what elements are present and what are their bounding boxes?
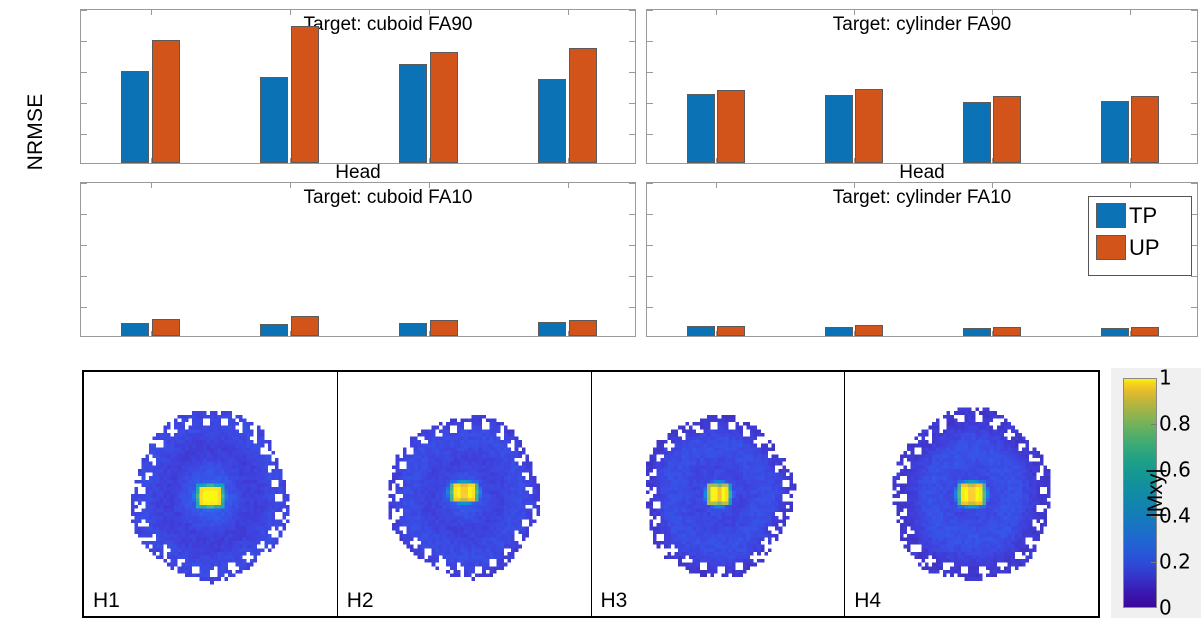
bar-tp-head-1 [687,326,715,336]
y-tick-mark [629,10,635,11]
y-tick-mark [81,307,87,308]
brain-panel-label: H1 [93,589,120,613]
bar-tp-head-4 [538,79,566,163]
brain-image-h3 [617,393,819,595]
y-tick-mark [81,72,87,73]
y-tick-mark [81,10,87,11]
plot-area: Target: cuboid FA9000.020.040.060.080.11… [81,10,635,163]
bar-tp-head-1 [121,71,149,163]
chart-panel-cuboid-fa10: Target: cuboid FA1000.020.040.060.080.1 [80,182,636,337]
brain-image-panel-h2: H2 [338,372,592,616]
y-tick-mark [647,134,653,135]
y-tick-mark [1191,183,1197,184]
bar-up-head-4 [569,320,597,336]
legend-label: UP [1129,237,1160,259]
bar-up-head-1 [152,319,180,337]
y-tick-mark [647,214,653,215]
bar-up-head-4 [569,48,597,163]
brain-image-h2 [363,393,565,595]
x-axis-label-top-left: Head [335,162,380,184]
bar-tp-head-3 [963,328,991,336]
y-axis-label: NRMSE [24,62,48,202]
bar-up-head-3 [430,320,458,336]
x-tick-mark [429,10,430,15]
y-tick-mark [81,134,87,135]
x-tick-mark [854,183,855,188]
bar-up-head-1 [717,326,745,336]
bar-tp-head-3 [963,102,991,163]
bar-up-head-3 [993,96,1021,163]
y-tick-mark [1191,307,1197,308]
colorbar-tick-mark [1151,562,1157,563]
x-tick-mark [290,10,291,15]
legend-item-tp: TP [1096,203,1183,228]
bar-up-head-4 [1131,96,1159,163]
y-tick-mark [629,72,635,73]
y-tick-mark [647,183,653,184]
x-tick-mark [429,183,430,188]
y-tick-mark [647,72,653,73]
bar-tp-head-2 [825,327,853,336]
x-tick-mark [1130,183,1131,188]
y-tick-mark [629,276,635,277]
y-tick-mark [1191,72,1197,73]
legend-item-up: UP [1096,235,1183,260]
bar-tp-head-2 [260,77,288,163]
legend-swatch-up [1096,235,1126,260]
x-tick-mark [992,10,993,15]
legend: TPUP [1088,196,1192,276]
colorbar-label: |Mxy| [1144,428,1168,558]
brain-panel-label: H4 [854,589,881,613]
brain-image-h1 [110,393,312,595]
bar-up-head-2 [855,325,883,336]
y-tick-mark [629,41,635,42]
brain-image-panel-h3: H3 [592,372,846,616]
plot-area: Target: cuboid FA1000.020.040.060.080.1 [81,183,635,336]
y-tick-mark [629,245,635,246]
brain-image-panel-h1: H1 [84,372,338,616]
y-tick-mark [81,214,87,215]
y-tick-mark [81,276,87,277]
x-axis-label-top-right: Head [899,162,944,184]
bar-up-head-3 [430,52,458,163]
plot-area: Target: cylinder FA901234 [647,10,1197,163]
y-tick-mark [81,41,87,42]
y-tick-mark [647,307,653,308]
x-tick-mark [151,10,152,15]
bar-tp-head-4 [538,322,566,336]
panel-title: Target: cylinder FA90 [647,14,1197,36]
y-tick-mark [629,103,635,104]
x-tick-mark [992,183,993,188]
colorbar-tick-label: 0 [1159,596,1172,620]
y-tick-mark [647,41,653,42]
x-tick-mark [568,10,569,15]
bar-tp-head-1 [687,94,715,163]
bar-up-head-1 [152,40,180,163]
bar-tp-head-4 [1101,101,1129,163]
panel-title: Target: cuboid FA90 [81,14,635,36]
colorbar: 00.20.40.60.81|Mxy| [1111,368,1201,618]
y-tick-mark [81,245,87,246]
y-tick-mark [1191,41,1197,42]
x-tick-mark [151,183,152,188]
x-tick-mark [568,183,569,188]
x-tick-mark [290,183,291,188]
y-tick-mark [629,307,635,308]
y-tick-mark [629,183,635,184]
bar-up-head-2 [291,26,319,163]
y-tick-mark [647,245,653,246]
y-tick-mark [647,103,653,104]
y-tick-mark [629,134,635,135]
bar-up-head-2 [855,89,883,163]
colorbar-tick-label: 1 [1159,366,1172,390]
y-tick-mark [1191,103,1197,104]
y-tick-mark [629,214,635,215]
brain-image-h4 [871,393,1073,595]
x-tick-mark [716,10,717,15]
x-tick-mark [1130,10,1131,15]
bar-up-head-3 [993,327,1021,336]
figure-root: NRMSE Target: cuboid FA9000.020.040.060.… [0,0,1201,620]
bar-up-head-4 [1131,327,1159,336]
x-tick-mark [854,10,855,15]
bar-tp-head-1 [121,323,149,336]
brain-image-panel-h4: H4 [845,372,1098,616]
y-tick-mark [81,183,87,184]
panel-title: Target: cuboid FA10 [81,187,635,209]
bar-tp-head-3 [399,64,427,163]
bar-up-head-1 [717,90,745,163]
bar-up-head-2 [291,316,319,336]
bar-tp-head-2 [825,95,853,163]
brain-image-row: H1H2H3H4 [82,370,1100,618]
y-tick-mark [81,103,87,104]
chart-panel-cylinder-fa90: Target: cylinder FA901234 [646,9,1198,164]
chart-panel-cuboid-fa90: Target: cuboid FA9000.020.040.060.080.11… [80,9,636,164]
y-tick-mark [1191,134,1197,135]
brain-panel-label: H2 [347,589,374,613]
x-tick-mark [716,183,717,188]
y-tick-mark [1191,10,1197,11]
brain-panel-label: H3 [601,589,628,613]
legend-label: TP [1129,205,1157,227]
bar-tp-head-4 [1101,328,1129,336]
colorbar-tick-mark [1151,424,1157,425]
legend-swatch-tp [1096,203,1126,228]
bar-tp-head-2 [260,324,288,336]
y-tick-mark [647,276,653,277]
y-tick-mark [647,10,653,11]
bar-tp-head-3 [399,323,427,336]
